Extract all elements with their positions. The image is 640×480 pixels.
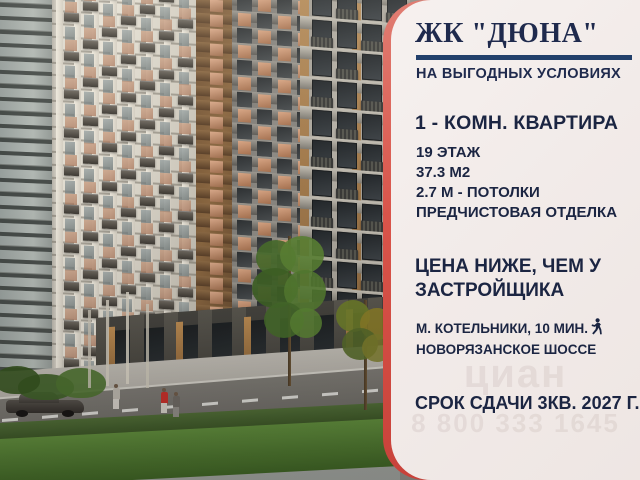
window: [65, 295, 75, 309]
pedestrian-legs: [113, 399, 119, 409]
window: [122, 235, 134, 247]
window: [84, 53, 94, 67]
window: [84, 181, 96, 193]
window: [210, 219, 223, 232]
window: [258, 126, 271, 140]
window: [210, 263, 223, 276]
window: [258, 222, 271, 236]
window: [179, 225, 189, 239]
pedestrian-walking-icon: [590, 318, 603, 340]
balcony: [102, 143, 117, 153]
window: [84, 143, 96, 155]
title-divider: [416, 55, 632, 60]
window: [237, 92, 252, 108]
balcony: [159, 300, 174, 310]
window: [238, 205, 251, 219]
window: [65, 270, 77, 282]
window: [122, 273, 134, 285]
balcony: [159, 108, 174, 118]
lane-marking: [122, 408, 138, 412]
window: [337, 202, 357, 230]
window: [258, 158, 271, 172]
balcony: [121, 170, 136, 180]
spec-area: 37.3 М2: [416, 163, 640, 183]
balcony: [121, 54, 136, 64]
balcony: [83, 270, 98, 280]
panel-surface: циан 8 800 333 1645 ЖК "ДЮНА" НА ВЫГОДНЫ…: [391, 0, 640, 480]
window: [84, 284, 94, 298]
birch-trunk: [88, 310, 91, 388]
street-tree: [250, 236, 328, 386]
window: [337, 262, 357, 290]
balcony: [159, 223, 174, 233]
balcony: [178, 58, 193, 68]
balcony: [121, 246, 136, 256]
window: [103, 118, 113, 132]
window: [103, 80, 113, 94]
background-tower-far: [0, 0, 58, 391]
window: [122, 30, 132, 44]
shrub: [0, 366, 40, 394]
window: [179, 276, 191, 288]
balcony: [64, 90, 79, 100]
window: [122, 222, 132, 236]
window: [65, 347, 77, 359]
complex-title: ЖК "ДЮНА": [415, 18, 598, 50]
window: [238, 173, 251, 187]
balcony: [83, 231, 98, 241]
balcony: [83, 78, 98, 88]
window: [210, 29, 223, 42]
balcony: [102, 220, 117, 230]
window: [103, 157, 113, 171]
window: [84, 245, 94, 259]
balcony: [140, 273, 155, 283]
window: [84, 258, 96, 270]
balcony: [159, 146, 174, 156]
window: [160, 211, 172, 223]
window: [210, 0, 223, 13]
window: [141, 261, 153, 273]
lane-marking: [82, 411, 98, 415]
window: [122, 260, 132, 274]
birch-trunk: [126, 292, 129, 384]
window: [257, 141, 272, 157]
window: [160, 122, 170, 136]
window: [65, 231, 77, 243]
window: [103, 170, 115, 182]
window: [257, 173, 272, 189]
pedestrian: [112, 384, 120, 409]
balcony: [102, 66, 117, 76]
window: [122, 183, 132, 197]
balcony: [102, 181, 117, 191]
window: [122, 43, 134, 55]
window: [277, 159, 292, 175]
window: [179, 123, 191, 135]
window: [84, 297, 96, 309]
lane-marking: [202, 402, 218, 406]
window: [278, 176, 291, 190]
balcony: [102, 258, 117, 268]
pedestrian: [172, 392, 180, 416]
window: [65, 219, 75, 233]
window: [210, 44, 223, 57]
window: [210, 248, 223, 261]
window: [141, 210, 151, 224]
balcony: [178, 96, 193, 106]
balcony: [121, 131, 136, 141]
balcony: [64, 166, 79, 176]
window: [122, 145, 132, 159]
window: [141, 249, 151, 263]
window: [237, 220, 252, 236]
window: [179, 238, 191, 250]
window: [84, 66, 96, 78]
window: [160, 288, 172, 300]
window: [278, 144, 291, 158]
balcony: [159, 261, 174, 271]
window: [179, 161, 191, 173]
window: [210, 160, 223, 173]
window: [65, 1, 77, 13]
vertical-pier: [56, 0, 63, 402]
window: [141, 223, 153, 235]
window: [258, 94, 271, 108]
window: [84, 28, 96, 40]
window: [179, 199, 191, 211]
window: [179, 187, 189, 201]
window: [210, 292, 223, 305]
window: [141, 108, 153, 120]
window: [237, 28, 252, 44]
window: [362, 54, 382, 82]
window: [179, 46, 191, 58]
window: [160, 83, 170, 97]
window: [65, 257, 75, 271]
window: [210, 117, 223, 130]
balcony: [121, 93, 136, 103]
window: [103, 195, 113, 209]
window: [312, 50, 332, 78]
window: [210, 58, 223, 71]
window: [122, 119, 134, 131]
balcony: [64, 320, 79, 330]
window: [103, 42, 113, 56]
window: [362, 174, 382, 202]
window: [122, 107, 132, 121]
balcony: [83, 39, 98, 49]
window: [160, 173, 172, 185]
window: [179, 7, 191, 19]
window: [65, 193, 77, 205]
window: [179, 71, 189, 85]
window: [237, 188, 252, 204]
window: [141, 69, 153, 81]
window: [210, 233, 223, 246]
window: [257, 45, 272, 61]
window: [257, 109, 272, 125]
window: [277, 95, 292, 111]
window: [103, 272, 113, 286]
car-wheel: [62, 410, 74, 417]
window: [278, 112, 291, 126]
balcony: [178, 134, 193, 144]
window: [84, 169, 94, 183]
balcony: [64, 51, 79, 61]
window: [65, 116, 77, 128]
balcony: [178, 211, 193, 221]
window: [65, 78, 77, 90]
pedestrian-legs: [173, 407, 179, 417]
lane-marking: [282, 395, 298, 399]
window: [141, 185, 153, 197]
highway-line: НОВОРЯЗАНСКОЕ ШОССЕ: [416, 340, 640, 359]
apartment-heading: 1 - КОМН. КВАРТИРА: [415, 112, 618, 135]
window: [179, 148, 189, 162]
window: [65, 65, 75, 79]
window: [103, 131, 115, 143]
window: [122, 196, 134, 208]
window: [84, 15, 94, 29]
balcony: [140, 4, 155, 14]
window: [65, 334, 75, 348]
window: [210, 175, 223, 188]
window: [362, 114, 382, 142]
window: [141, 146, 153, 158]
window: [312, 170, 332, 198]
window: [312, 110, 332, 138]
window: [160, 160, 170, 174]
window: [257, 205, 272, 221]
window: [65, 180, 75, 194]
window: [210, 87, 223, 100]
balcony: [64, 13, 79, 23]
window: [278, 80, 291, 94]
lane-marking: [242, 398, 258, 402]
window: [103, 234, 113, 248]
spec-ceiling: 2.7 М - ПОТОЛКИ: [416, 183, 640, 203]
shrub: [56, 368, 106, 398]
spec-finish: ПРЕДЧИСТОВАЯ ОТДЕЛКА: [416, 203, 640, 223]
metro-line: М. КОТЕЛЬНИКИ, 10 МИН.: [416, 318, 640, 340]
window: [160, 134, 172, 146]
balcony: [64, 128, 79, 138]
window: [258, 30, 271, 44]
balcony: [83, 116, 98, 126]
balcony: [178, 288, 193, 298]
window: [237, 124, 252, 140]
balcony: [140, 235, 155, 245]
window: [210, 131, 223, 144]
window: [84, 130, 94, 144]
window: [238, 77, 251, 91]
balcony: [159, 0, 174, 2]
balcony: [121, 16, 136, 26]
window: [210, 146, 223, 159]
balcony: [64, 243, 79, 253]
window: [103, 285, 115, 297]
window: [337, 142, 357, 170]
balcony: [159, 69, 174, 79]
metro-label: М. КОТЕЛЬНИКИ, 10 МИН.: [416, 321, 588, 336]
window: [103, 93, 115, 105]
advertisement-image: циан 8 800 333 1645 ЖК "ДЮНА" НА ВЫГОДНЫ…: [0, 0, 640, 480]
window: [278, 16, 291, 30]
window: [160, 250, 172, 262]
pedestrian-legs: [161, 403, 167, 413]
balcony: [140, 43, 155, 53]
window: [210, 277, 223, 290]
window: [210, 102, 223, 115]
window: [210, 14, 223, 27]
balcony: [140, 119, 155, 129]
balcony: [64, 282, 79, 292]
balcony: [140, 158, 155, 168]
window: [141, 95, 151, 109]
window: [141, 287, 151, 301]
window: [65, 27, 75, 41]
spec-floor: 19 ЭТАЖ: [416, 143, 640, 163]
window: [278, 48, 291, 62]
window: [257, 13, 272, 29]
tree-foliage: [280, 236, 324, 274]
window: [160, 6, 170, 20]
window: [277, 31, 292, 47]
balcony: [140, 81, 155, 91]
window: [103, 16, 115, 28]
pedestrian-red-jacket: [160, 388, 168, 413]
window: [141, 31, 153, 43]
window: [210, 204, 223, 217]
window: [65, 39, 77, 51]
window: [122, 68, 132, 82]
window: [141, 133, 151, 147]
window: [238, 13, 251, 27]
balcony: [83, 193, 98, 203]
window: [103, 3, 113, 17]
window: [160, 198, 170, 212]
apartment-specs-list: 19 ЭТАЖ 37.3 М2 2.7 М - ПОТОЛКИ ПРЕДЧИСТ…: [416, 143, 640, 223]
window: [160, 237, 170, 251]
birch-trunk: [106, 300, 109, 386]
window: [160, 45, 170, 59]
window: [179, 263, 189, 277]
balcony: [83, 1, 98, 11]
window: [277, 63, 292, 79]
window: [278, 208, 291, 222]
window: [160, 96, 172, 108]
window: [122, 81, 134, 93]
completion-deadline: СРОК СДАЧИ 3КВ. 2027 Г.: [415, 393, 640, 414]
window: [312, 0, 332, 17]
window: [65, 155, 77, 167]
window: [160, 58, 172, 70]
window: [103, 246, 115, 258]
window: [238, 45, 251, 59]
window: [84, 105, 96, 117]
window: [237, 156, 252, 172]
balcony: [178, 19, 193, 29]
window: [179, 33, 189, 47]
window: [257, 77, 272, 93]
balcony: [102, 297, 117, 307]
window: [122, 4, 134, 16]
window: [65, 103, 75, 117]
panel-content: ЖК "ДЮНА" НА ВЫГОДНЫХ УСЛОВИЯХ 1 - КОМН.…: [415, 0, 640, 480]
window: [258, 0, 271, 12]
window: [210, 190, 223, 203]
balcony: [159, 185, 174, 195]
window: [362, 234, 382, 262]
balcony: [140, 196, 155, 206]
window: [141, 57, 151, 71]
window: [65, 142, 75, 156]
balcony: [64, 205, 79, 215]
car-wheel: [16, 410, 28, 417]
window: [84, 220, 96, 232]
window: [103, 54, 115, 66]
window: [258, 190, 271, 204]
info-panel: циан 8 800 333 1645 ЖК "ДЮНА" НА ВЫГОДНЫ…: [383, 0, 640, 480]
window: [84, 207, 94, 221]
window: [238, 109, 251, 123]
birch-trunk: [146, 304, 149, 388]
balcony: [178, 173, 193, 183]
window: [337, 22, 357, 50]
balcony: [102, 28, 117, 38]
window: [277, 191, 292, 207]
offer-subtitle: НА ВЫГОДНЫХ УСЛОВИЯХ: [416, 66, 621, 82]
window: [362, 0, 382, 21]
location-block: М. КОТЕЛЬНИКИ, 10 МИН. НОВОРЯЗАНСКОЕ ШОС…: [416, 318, 640, 359]
balcony: [159, 31, 174, 41]
window: [337, 82, 357, 110]
window: [141, 172, 151, 186]
window: [179, 110, 189, 124]
balcony: [83, 155, 98, 165]
window: [160, 19, 172, 31]
balcony: [102, 105, 117, 115]
price-heading: ЦЕНА НИЖЕ, ЧЕМ У ЗАСТРОЙЩИКА: [415, 255, 637, 303]
window: [141, 18, 151, 32]
window: [84, 92, 94, 106]
window: [122, 158, 134, 170]
window: [238, 141, 251, 155]
window: [179, 84, 191, 96]
window: [258, 62, 271, 76]
window: [210, 73, 223, 86]
tree-foliage: [290, 308, 322, 338]
window: [103, 208, 115, 220]
window: [237, 60, 252, 76]
window: [65, 308, 77, 320]
window: [277, 0, 292, 15]
balcony: [121, 208, 136, 218]
window: [277, 127, 292, 143]
balcony: [178, 250, 193, 260]
window: [160, 275, 170, 289]
